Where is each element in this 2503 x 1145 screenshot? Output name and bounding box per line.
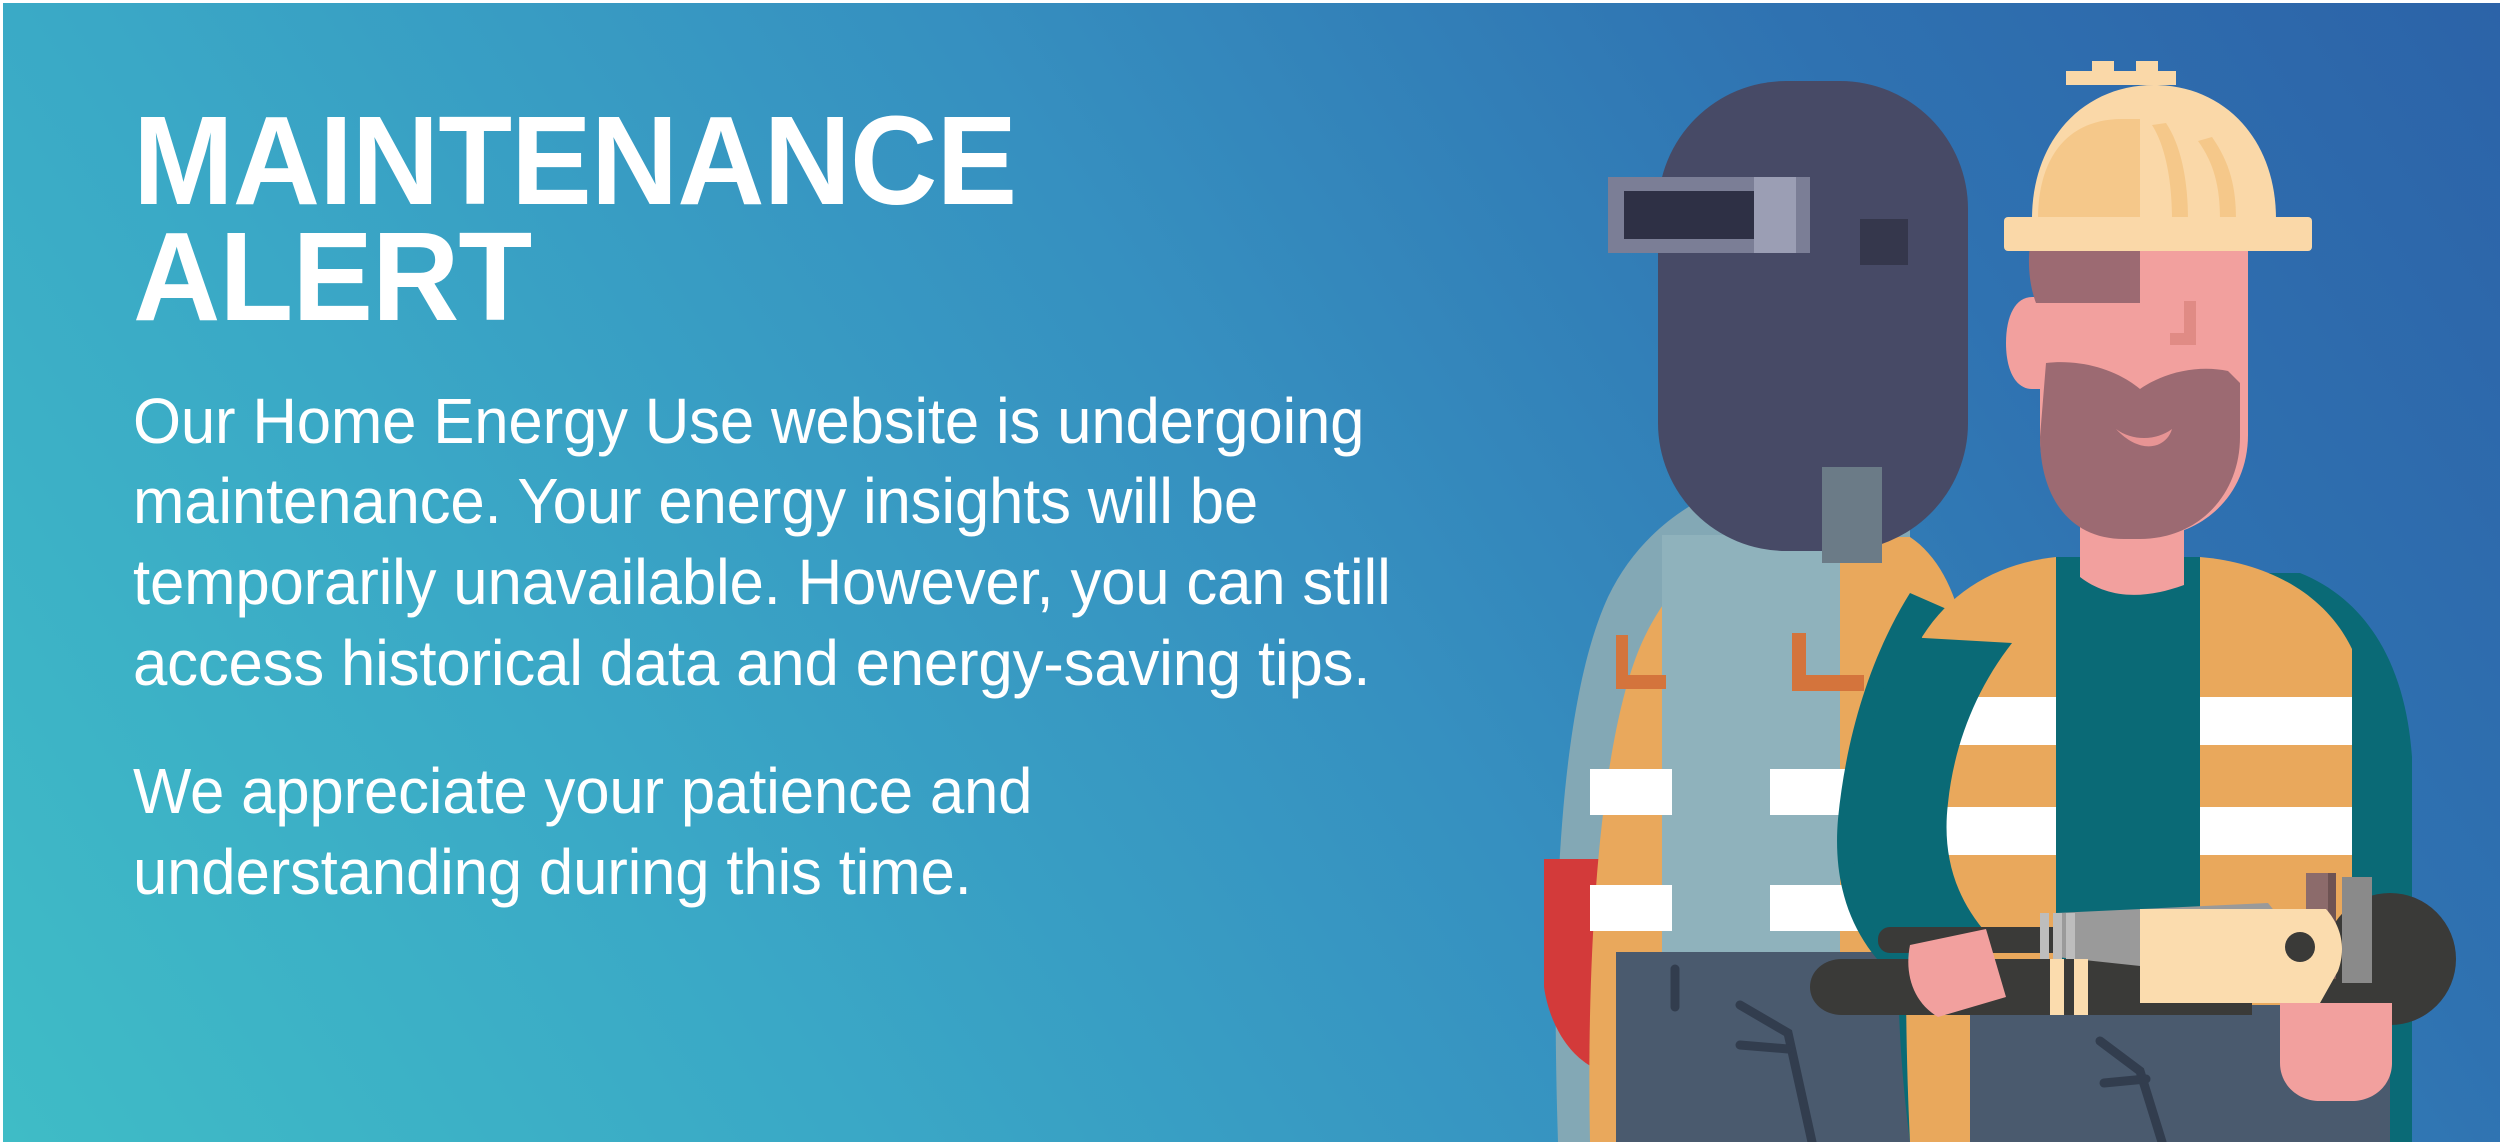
hard-hat-top-notch [2066,61,2176,85]
wrench-jaw-plate-grey [2342,877,2372,983]
welding-visor-highlight [1754,177,1796,253]
welding-helmet-side-tab [1860,219,1908,265]
wrench-barrel-rings [2040,913,2075,959]
forearm-knuckle-dot [2285,932,2315,962]
alert-paragraph-primary: Our Home Energy Use website is undergoin… [133,381,1407,704]
banner-text-column: MAINTENANCE ALERT Our Home Energy Use we… [133,103,1453,913]
welding-visor-lens [1624,191,1776,239]
alert-paragraph-secondary: We appreciate your patience and understa… [133,751,1407,912]
two-construction-workers-illustration [1440,0,2500,1142]
welding-helmet-neck [1822,467,1882,563]
hard-hat-brim [2004,217,2312,251]
worker-right-hand [2280,1003,2392,1101]
page-title: MAINTENANCE ALERT [133,103,1400,335]
maintenance-alert-banner: MAINTENANCE ALERT Our Home Energy Use we… [0,0,2503,1145]
welding-helmet [1658,81,1968,551]
hard-hat-crown-left [2038,119,2140,219]
